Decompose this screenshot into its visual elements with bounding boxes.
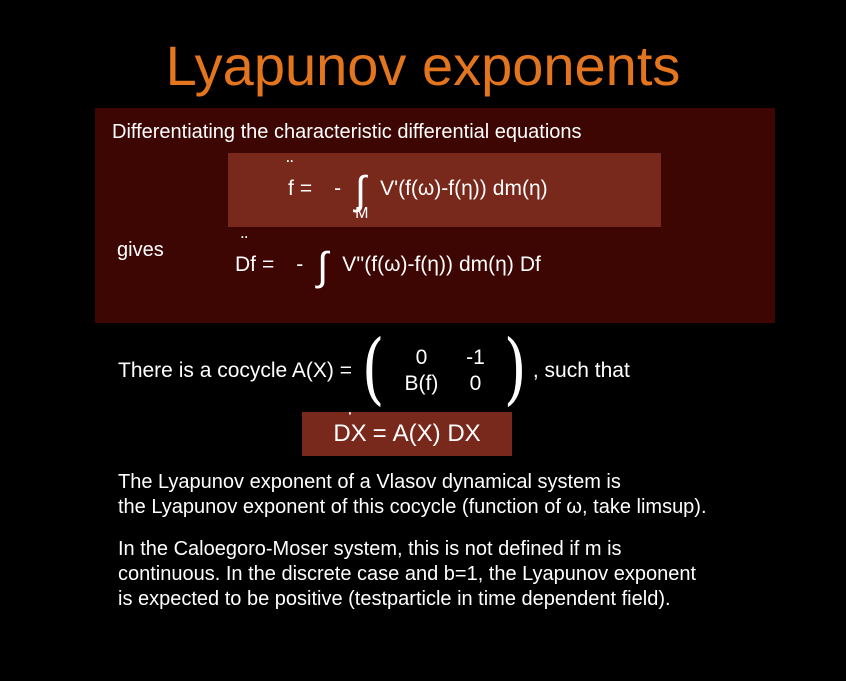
dx-equation-lhs-symbol: DX — [333, 420, 366, 447]
integral-lower-limit: M — [355, 206, 368, 222]
paragraph-one: The Lyapunov exponent of a Vlasov dynami… — [118, 470, 707, 520]
equation-2-integrand: V''(f(ω)-f(η)) — [342, 253, 453, 277]
matrix-cell-1-0: B(f) — [405, 371, 439, 397]
cocycle-trail-text: , such that — [533, 358, 630, 384]
integral-glyph: ∫ — [317, 244, 328, 290]
derivation-panel: Differentiating the characteristic diffe… — [95, 108, 775, 323]
equation-box-1: ¨ f = - ∫ M V'(f(ω)-f(η)) dm(η) — [228, 153, 661, 227]
integral-sign: ∫ — [317, 256, 328, 278]
double-dot-accent: ¨ — [241, 240, 250, 248]
equation-1-lhs-symbol: f — [288, 177, 294, 200]
equation-2-lhs-symbol: Df — [235, 253, 256, 276]
slide-title: Lyapunov exponents — [0, 36, 846, 96]
cocycle-lead-text: There is a cocycle A(X) = — [118, 358, 352, 384]
equation-2: ¨ Df = - ∫ V''(f(ω)-f(η)) dm(η) Df — [235, 253, 541, 277]
dx-equation-lhs: · DX — [333, 421, 366, 447]
gives-label: gives — [117, 238, 164, 262]
matrix-cell-0-1: -1 — [466, 345, 485, 371]
equation-1-integrand: V'(f(ω)-f(η)) — [380, 177, 487, 201]
equation-1-measure: dm(η) — [493, 177, 548, 201]
matrix-cell-0-0: 0 — [416, 345, 428, 371]
dx-equation: · DX = A(X) DX — [333, 421, 480, 447]
integral-sign: ∫ M — [355, 180, 366, 202]
double-dot-accent: ¨ — [287, 164, 296, 172]
matrix-left-paren: ( — [362, 344, 385, 394]
equation-box-2: · DX = A(X) DX — [302, 412, 512, 456]
matrix-right-paren: ) — [504, 344, 527, 394]
matrix-cell-1-1: 0 — [470, 371, 482, 397]
equation-2-minus: - — [296, 253, 303, 277]
equation-2-equals: = — [262, 253, 274, 277]
dx-equation-rhs: A(X) DX — [393, 421, 481, 447]
cocycle-matrix: 0 -1 B(f) 0 — [390, 345, 498, 397]
paragraph-two: In the Caloegoro-Moser system, this is n… — [118, 537, 696, 612]
equation-1-lhs: ¨ f — [288, 177, 294, 201]
dx-equation-equals: = — [373, 421, 387, 447]
slide-canvas: Lyapunov exponents Differentiating the c… — [0, 0, 846, 681]
equation-2-trailing: Df — [520, 253, 541, 277]
equation-2-measure: dm(η) — [459, 253, 514, 277]
cocycle-statement: There is a cocycle A(X) = ( 0 -1 B(f) 0 … — [118, 345, 630, 397]
single-dot-accent: · — [347, 409, 354, 417]
equation-1: ¨ f = - ∫ M V'(f(ω)-f(η)) dm(η) — [288, 177, 548, 201]
equation-1-minus: - — [334, 177, 341, 201]
panel-intro-text: Differentiating the characteristic diffe… — [112, 120, 582, 144]
equation-1-equals: = — [300, 177, 312, 201]
equation-2-lhs: ¨ Df — [235, 253, 256, 277]
